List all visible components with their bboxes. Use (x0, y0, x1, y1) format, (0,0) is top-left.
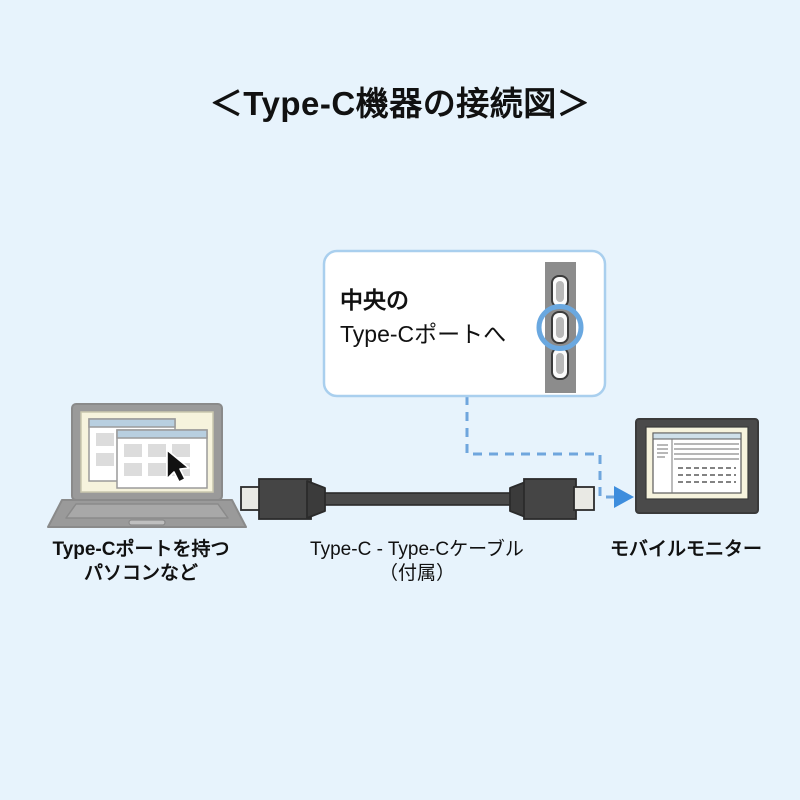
caption-laptop-line1: Type-Cポートを持つ (53, 539, 230, 560)
caption-laptop-line2: パソコンなど (84, 563, 198, 584)
caption-cable: Type-C - Type-Cケーブル（付属） (262, 538, 572, 587)
cable-connector-right (510, 479, 594, 519)
arrow-head-icon (614, 486, 634, 508)
usb-c-cable-illustration (241, 479, 594, 519)
monitor-document-window (653, 433, 741, 493)
laptop-illustration (48, 404, 246, 527)
type-c-port-middle (552, 312, 568, 343)
mobile-monitor-illustration (636, 419, 758, 513)
port-strip (539, 262, 581, 393)
caption-laptop: Type-Cポートを持つパソコンなど (10, 538, 272, 587)
caption-cable-line2: （付属） (379, 563, 455, 584)
callout-line-2: Type-Cポートへ (340, 320, 506, 349)
page-title: ＜Type-C機器の接続図＞ (0, 83, 800, 125)
type-c-port-bottom (552, 348, 568, 379)
callout-line-1: 中央の (340, 286, 409, 315)
caption-monitor: モバイルモニター (580, 538, 792, 562)
caption-cable-line1: Type-C - Type-Cケーブル (310, 539, 524, 560)
diagram-canvas: ＜Type-C機器の接続図＞ 中央の Type-Cポートへ Type-Cポートを… (0, 0, 800, 800)
caption-monitor-line1: モバイルモニター (610, 539, 762, 560)
cable-connector-left (241, 479, 325, 519)
laptop-window-front (117, 430, 207, 488)
type-c-port-top (552, 276, 568, 307)
